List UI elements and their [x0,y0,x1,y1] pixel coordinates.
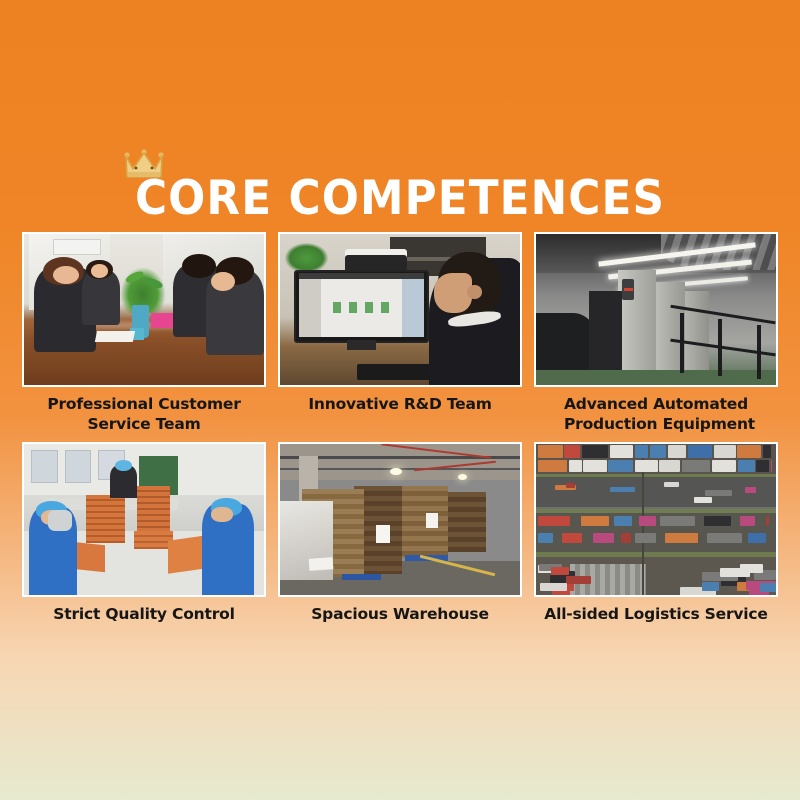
photo-innovative-rd-team[interactable] [278,232,522,387]
container-block [694,497,711,502]
container-block [668,445,687,458]
container-block [540,583,566,591]
container-block [738,460,755,473]
container-block [665,533,698,543]
container-block [660,516,695,526]
container-block [704,516,731,526]
container-block [608,460,633,473]
container-block [566,483,576,488]
title-wrap: CORE COMPETENCES [115,175,685,222]
crown-icon [123,149,165,179]
scene-printing-press [536,234,776,385]
container-block [614,516,632,526]
caption-line-2: Production Equipment [564,415,755,433]
caption-spacious-warehouse: Spacious Warehouse [278,597,522,625]
container-block [583,460,606,473]
caption-innovative-rd-team: Innovative R&D Team [278,387,522,415]
container-block [581,516,609,526]
scene-quality-control [24,444,264,595]
container-block [707,533,741,543]
container-block [582,445,609,458]
container-block [635,460,658,473]
scene-warehouse [280,444,520,595]
container-block [564,576,591,584]
caption-strict-quality-control: Strict Quality Control [22,597,266,625]
competence-card-advanced-automated-production-equipment[interactable]: Advanced Automated Production Equipment [534,232,778,435]
container-block [639,516,656,526]
container-block [720,568,750,577]
caption-line-2: Service Team [87,415,200,433]
caption-professional-customer-service-team: Professional Customer Service Team [22,387,266,435]
caption-all-sided-logistics-service: All-sided Logistics Service [534,597,778,625]
container-block [551,567,569,575]
photo-spacious-warehouse[interactable] [278,442,522,597]
container-block [748,533,766,543]
scene-rd-workstation [280,234,520,385]
container-block [705,490,732,495]
container-block [745,487,756,492]
competence-card-innovative-rd-team[interactable]: Innovative R&D Team [278,232,522,435]
photo-professional-customer-service-team[interactable] [22,232,266,387]
container-block [664,482,679,487]
caption-line-1: All-sided Logistics Service [544,605,767,623]
container-block [621,533,631,543]
container-block [712,460,736,473]
container-block [538,533,553,543]
container-block [550,575,567,583]
caption-line-1: Innovative R&D Team [308,395,491,413]
competence-card-professional-customer-service-team[interactable]: Professional Customer Service Team [22,232,266,435]
caption-line-1: Professional Customer [47,395,240,413]
caption-line-1: Advanced Automated [564,395,748,413]
competence-card-all-sided-logistics-service[interactable]: All-sided Logistics Service [534,442,778,625]
container-block [682,460,711,473]
container-block [593,533,615,543]
container-block [610,445,633,458]
competences-grid: Professional Customer Service Team Innov… [22,232,778,624]
photo-strict-quality-control[interactable] [22,442,266,597]
caption-line-1: Spacious Warehouse [311,605,489,623]
container-block [766,516,769,526]
container-block [760,583,778,592]
container-block [635,533,655,543]
container-block [763,445,771,458]
container-block [702,582,719,591]
page-title: CORE COMPETENCES [135,175,665,222]
competence-card-spacious-warehouse[interactable]: Spacious Warehouse [278,442,522,625]
container-block [688,445,712,458]
caption-line-1: Strict Quality Control [53,605,234,623]
container-block [538,460,567,473]
competence-card-strict-quality-control[interactable]: Strict Quality Control [22,442,266,625]
photo-all-sided-logistics-service[interactable] [534,442,778,597]
scene-logistics-port [536,444,776,595]
container-block [610,487,636,492]
container-block [714,445,736,458]
container-block [564,445,580,458]
scene-meeting-room [24,234,264,385]
page-header: CORE COMPETENCES [0,0,800,232]
container-block [562,533,583,543]
container-block [650,445,666,458]
caption-advanced-automated-production-equipment: Advanced Automated Production Equipment [534,387,778,435]
photo-advanced-automated-production-equipment[interactable] [534,232,778,387]
container-block [538,516,570,526]
container-block [740,516,755,526]
container-block [569,460,582,473]
container-block [659,460,680,473]
container-block [538,445,562,458]
container-block [756,460,769,473]
container-block [635,445,648,458]
container-block [737,445,761,458]
